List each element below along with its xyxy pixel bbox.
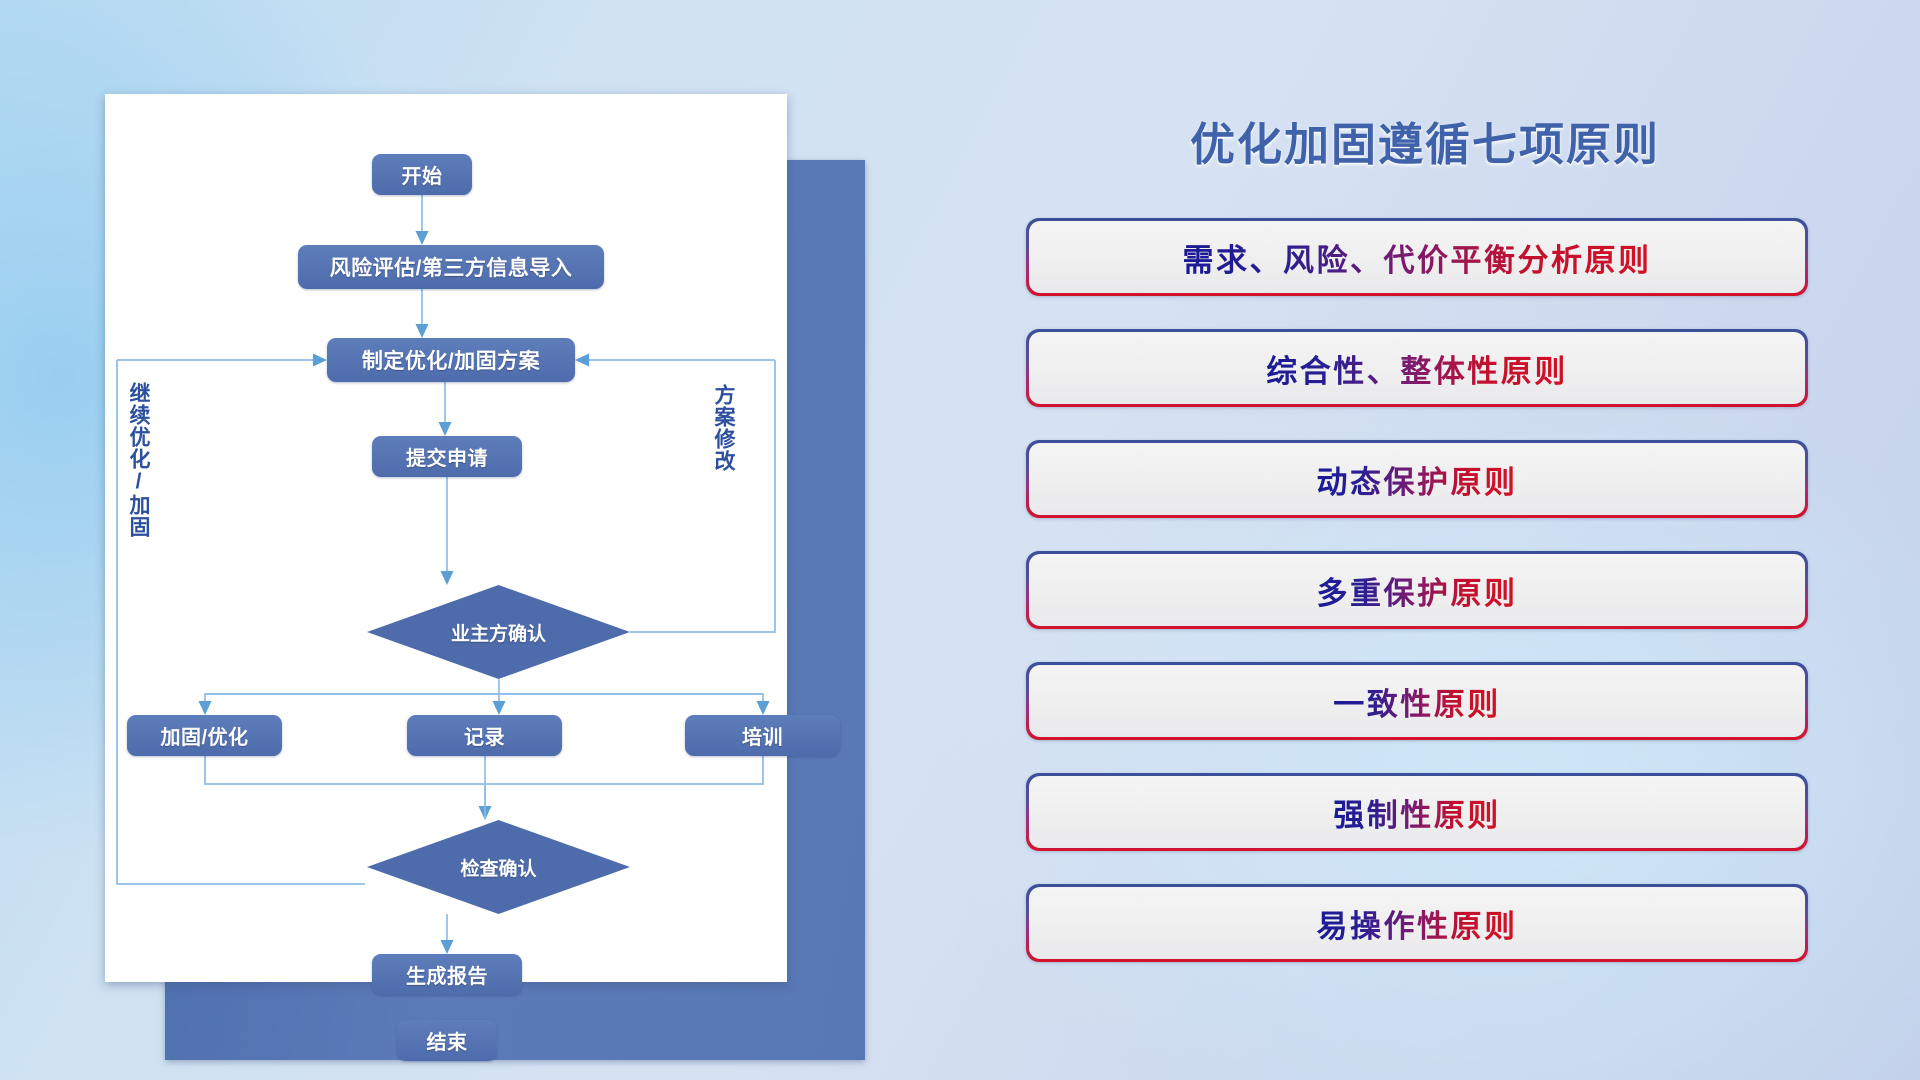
flowchart-panel: 开始 风险评估/第三方信息导入 制定优化/加固方案 提交申请 业主方确认 (105, 94, 805, 994)
flow-node-reinforce-optimize[interactable]: 加固/优化 (127, 715, 282, 756)
flow-node-label: 提交申请 (406, 442, 488, 471)
principle-label: 动态保护原则 (1317, 457, 1518, 502)
principle-card[interactable]: 强制性原则 (1026, 773, 1808, 851)
flow-node-end[interactable]: 结束 (397, 1020, 497, 1061)
flow-node-submit[interactable]: 提交申请 (372, 436, 522, 477)
flow-node-plan[interactable]: 制定优化/加固方案 (327, 338, 575, 382)
principle-label: 综合性、整体性原则 (1266, 346, 1568, 391)
flow-node-label: 记录 (464, 721, 505, 750)
principle-label: 易操作性原则 (1317, 901, 1518, 946)
flow-node-risk-assessment[interactable]: 风险评估/第三方信息导入 (298, 245, 604, 289)
principle-card[interactable]: 易操作性原则 (1026, 884, 1808, 962)
principle-label: 一致性原则 (1333, 679, 1501, 724)
principle-card[interactable]: 需求、风险、代价平衡分析原则 (1026, 218, 1808, 296)
principle-card[interactable]: 综合性、整体性原则 (1026, 329, 1808, 407)
principle-card-face: 综合性、整体性原则 (1029, 332, 1806, 405)
flow-node-label: 制定优化/加固方案 (362, 345, 540, 375)
flow-node-label: 培训 (742, 721, 783, 750)
principle-card-face: 易操作性原则 (1029, 887, 1806, 960)
principle-card-face: 多重保护原则 (1029, 554, 1806, 627)
flow-node-label: 风险评估/第三方信息导入 (330, 252, 573, 282)
flow-node-generate-report[interactable]: 生成报告 (372, 954, 522, 995)
principle-card-face: 一致性原则 (1029, 665, 1806, 738)
flowchart-card: 开始 风险评估/第三方信息导入 制定优化/加固方案 提交申请 业主方确认 (105, 94, 787, 982)
flow-decision-inspection-confirm[interactable] (367, 820, 630, 914)
principle-card[interactable]: 动态保护原则 (1026, 440, 1808, 518)
flow-node-label: 加固/优化 (160, 721, 248, 750)
flow-node-label: 开始 (402, 160, 443, 189)
principle-card-face: 强制性原则 (1029, 776, 1806, 849)
principle-label: 强制性原则 (1333, 790, 1501, 835)
flow-edge-label-plan-revision: 方案修改 (713, 384, 734, 472)
principle-label: 需求、风险、代价平衡分析原则 (1183, 235, 1652, 280)
flow-node-label: 结束 (427, 1026, 468, 1055)
principles-panel-title: 优化加固遵循七项原则 (1020, 108, 1830, 173)
principle-card-face: 需求、风险、代价平衡分析原则 (1029, 221, 1806, 294)
principle-card-face: 动态保护原则 (1029, 443, 1806, 516)
slide-canvas: 开始 风险评估/第三方信息导入 制定优化/加固方案 提交申请 业主方确认 (0, 0, 1920, 1080)
flow-node-record[interactable]: 记录 (407, 715, 562, 756)
principles-panel: 优化加固遵循七项原则 需求、风险、代价平衡分析原则 综合性、整体性原则 动态保护… (1020, 100, 1830, 1020)
principle-card[interactable]: 一致性原则 (1026, 662, 1808, 740)
flow-node-start[interactable]: 开始 (372, 154, 472, 195)
flow-decision-owner-confirm[interactable] (367, 585, 630, 679)
principle-card[interactable]: 多重保护原则 (1026, 551, 1808, 629)
flow-node-training[interactable]: 培训 (685, 715, 840, 756)
flow-node-label: 生成报告 (406, 960, 488, 989)
flow-edge-label-continue-optimize: 继续优化/加固 (128, 382, 149, 538)
principle-label: 多重保护原则 (1317, 568, 1518, 613)
